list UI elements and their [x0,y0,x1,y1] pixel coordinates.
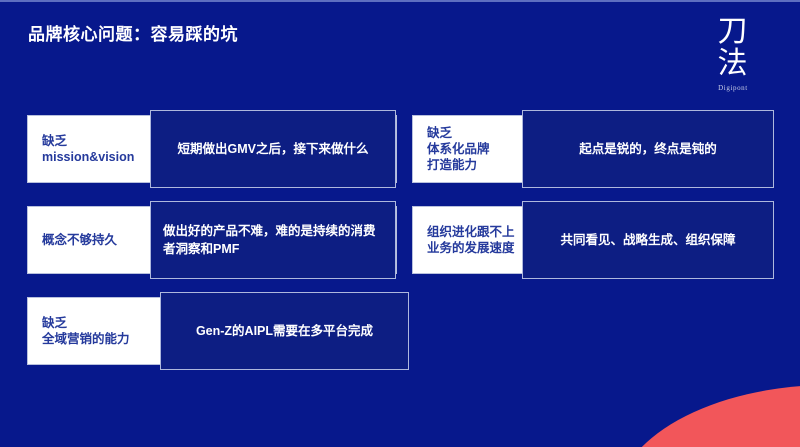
corner-accent-shape [615,385,800,447]
issue-label: 概念不够持久 [42,232,160,248]
issue-statement-text: 做出好的产品不难，难的是持续的消费者洞察和PMF [163,222,383,258]
logo-char-top: 刀 [690,16,776,48]
brand-logo: 刀 法 Digipont [690,16,776,92]
issue-statement-text: 起点是锐的，终点是钝的 [579,140,717,158]
logo-subtitle: Digipont [690,84,776,92]
issue-statement-omni-marketing: Gen-Z的AIPL需要在多平台完成 [160,292,409,370]
issue-statement-brand-system: 起点是锐的，终点是钝的 [522,110,774,188]
issue-row-1: 缺乏 mission&vision 短期做出GMV之后，接下来做什么 缺乏 体系… [0,110,800,188]
issue-label: 缺乏 mission&vision [42,133,160,165]
issue-label: 缺乏 体系化品牌 打造能力 [427,125,531,173]
issue-statement-organization-speed: 共同看见、战略生成、组织保障 [522,201,774,279]
issue-statement-concept-durability: 做出好的产品不难，难的是持续的消费者洞察和PMF [150,201,396,279]
issue-row-3: 缺乏 全域营销的能力 Gen-Z的AIPL需要在多平台完成 [0,292,800,370]
issue-row-2: 概念不够持久 做出好的产品不难，难的是持续的消费者洞察和PMF 组织进化跟不上 … [0,201,800,279]
issue-statement-text: Gen-Z的AIPL需要在多平台完成 [196,322,373,340]
issues-grid: 缺乏 mission&vision 短期做出GMV之后，接下来做什么 缺乏 体系… [0,110,800,383]
issue-statement-text: 短期做出GMV之后，接下来做什么 [178,140,369,158]
page-title: 品牌核心问题：容易踩的坑 [28,20,238,45]
issue-statement-text: 共同看见、战略生成、组织保障 [560,231,735,249]
issue-label: 组织进化跟不上 业务的发展速度 [427,224,531,256]
slide-canvas: 品牌核心问题：容易踩的坑 刀 法 Digipont 缺乏 mission&vis… [0,0,800,447]
logo-char-bottom: 法 [690,48,776,80]
issue-statement-mission-vision: 短期做出GMV之后，接下来做什么 [150,110,396,188]
issue-label: 缺乏 全域营销的能力 [42,315,166,347]
